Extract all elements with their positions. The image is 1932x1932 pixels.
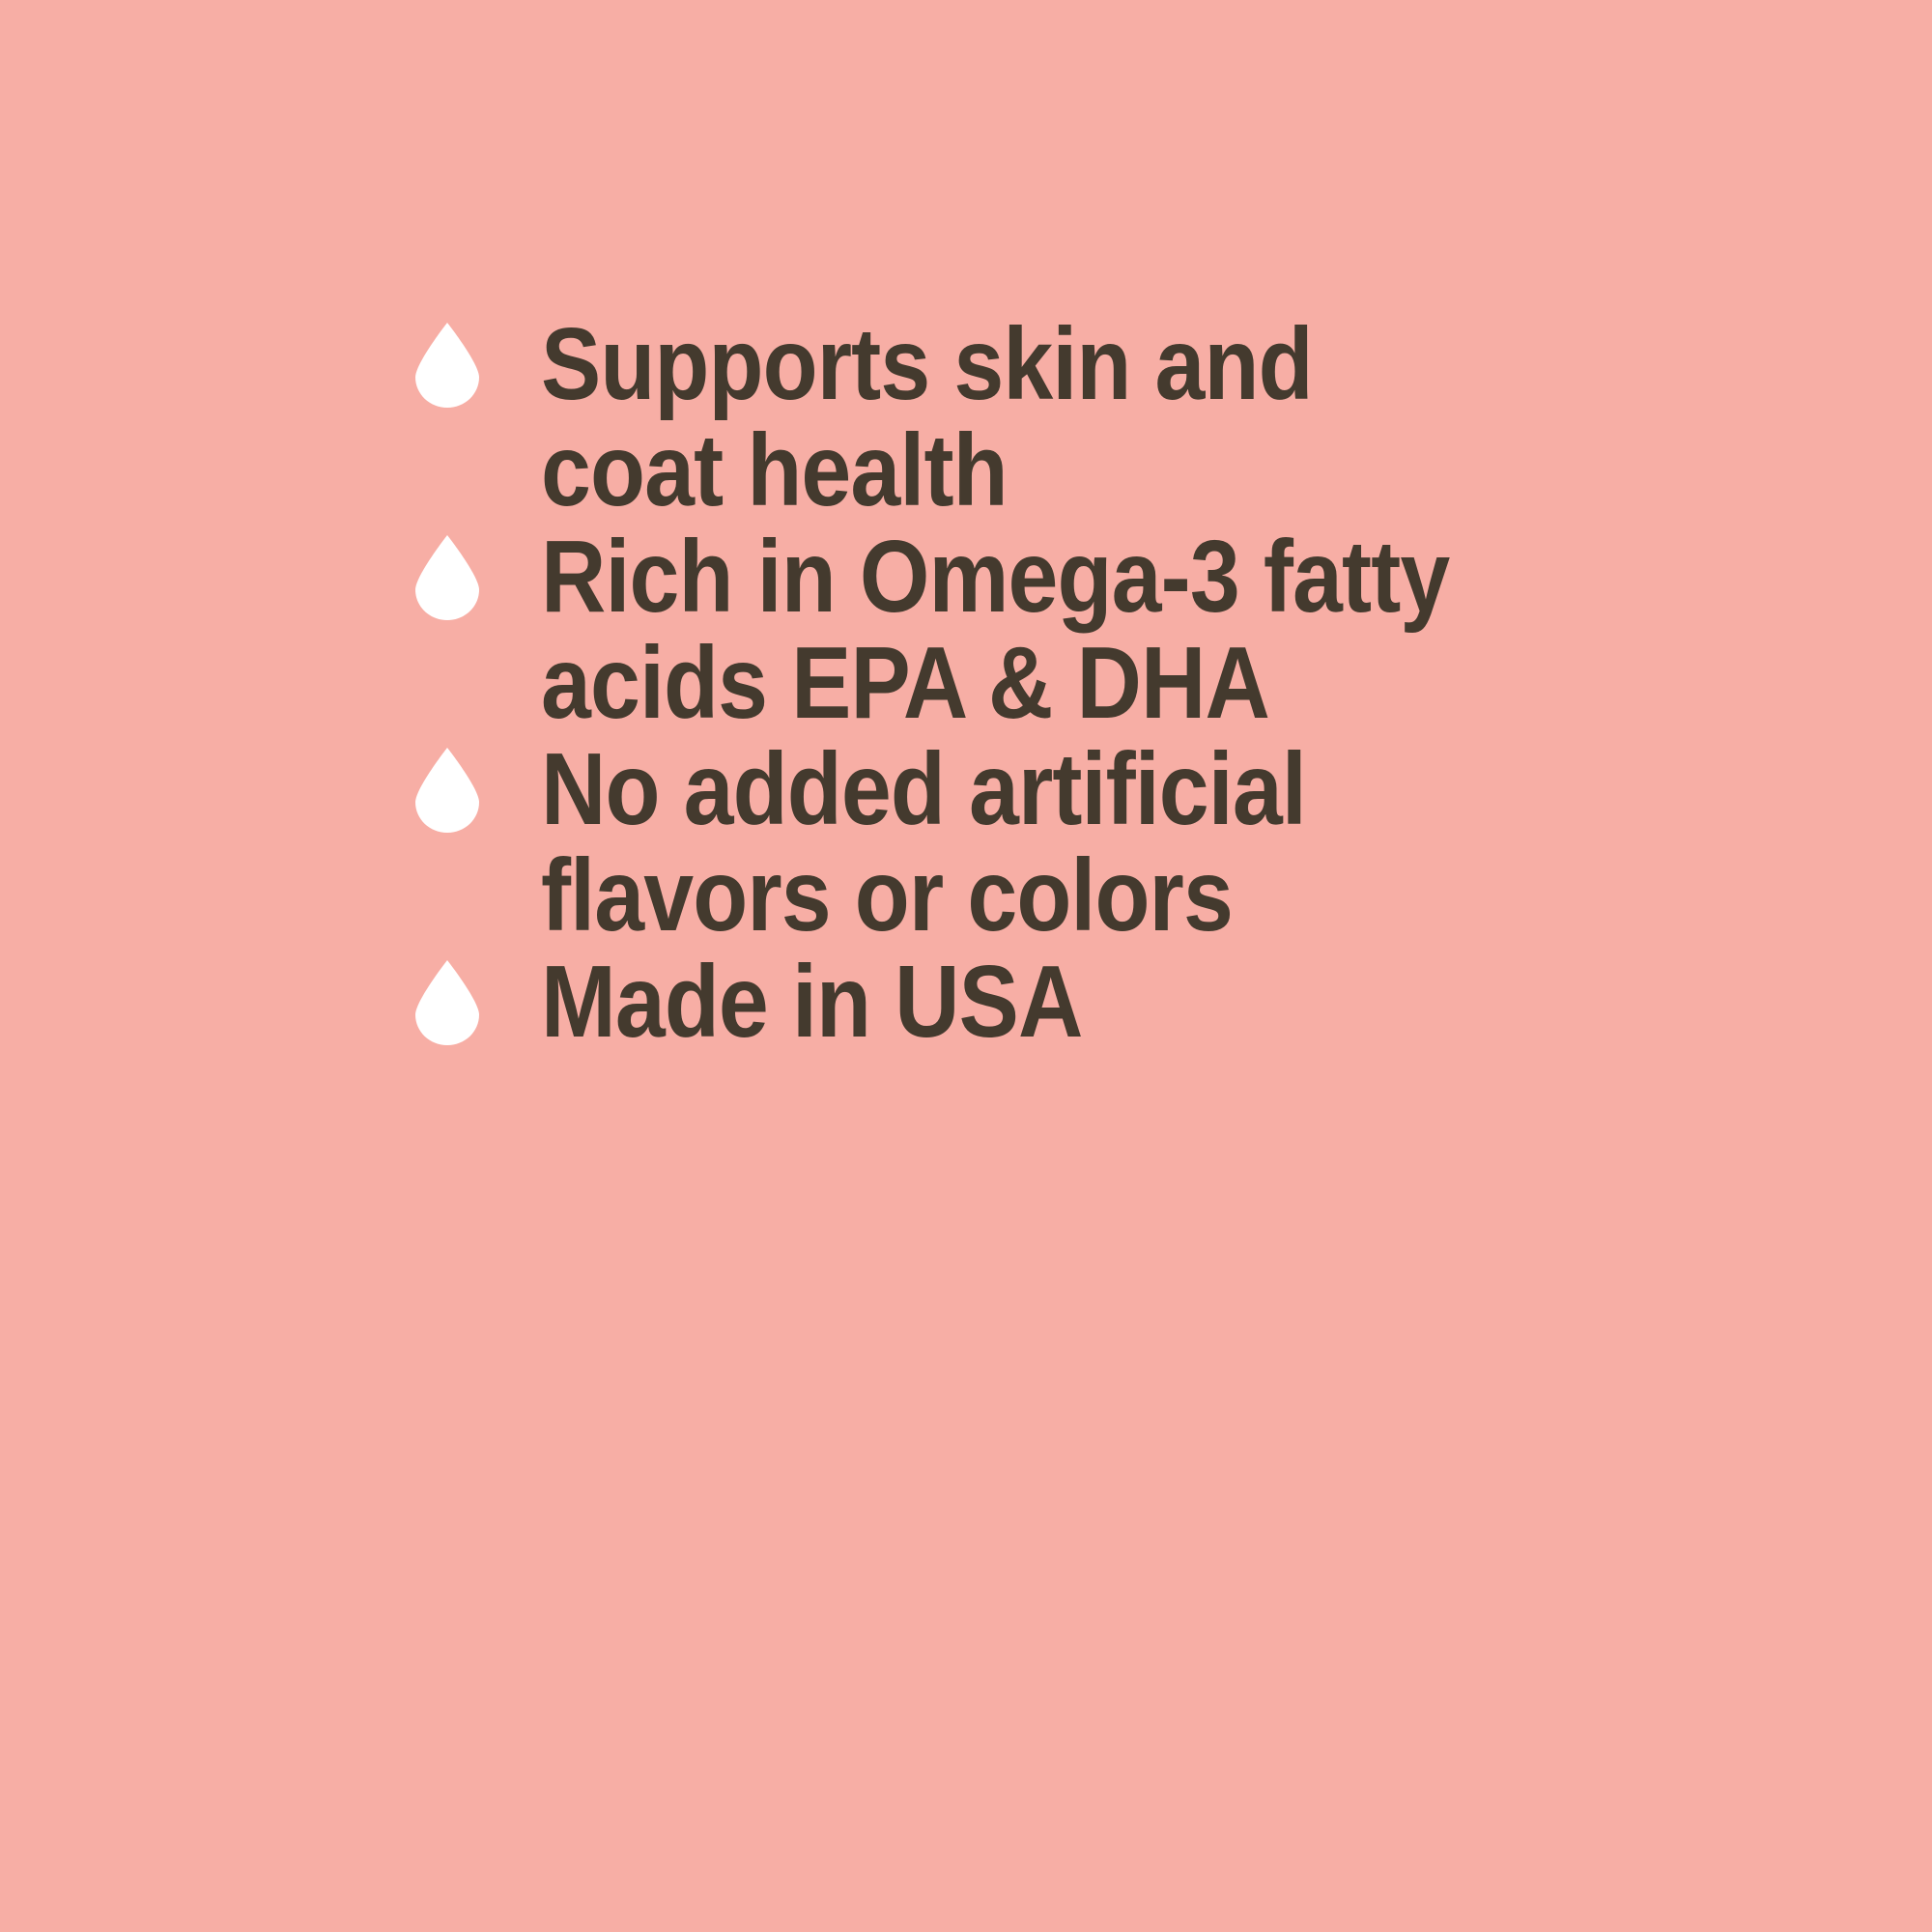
benefit-item-rich-in-omega-3: Rich in Omega-3 fatty acids EPA & DHA (415, 524, 1575, 736)
product-benefits-panel: Supports skin and coat health Rich in Om… (0, 0, 1932, 1932)
water-drop-icon (415, 323, 479, 408)
benefit-label: Made in USA (541, 949, 1451, 1055)
benefit-label: Supports skin and coat health (541, 311, 1451, 524)
benefit-item-supports-skin-and-coat-health: Supports skin and coat health (415, 311, 1575, 524)
benefits-list: Supports skin and coat health Rich in Om… (415, 290, 1575, 1055)
water-drop-icon (415, 535, 479, 620)
benefit-label: Rich in Omega-3 fatty acids EPA & DHA (541, 524, 1451, 736)
benefit-item-no-artificial-flavors-or-colors: No added artificial flavors or colors (415, 736, 1575, 949)
water-drop-icon (415, 960, 479, 1045)
benefit-item-made-in-usa: Made in USA (415, 949, 1575, 1055)
benefit-label: No added artificial flavors or colors (541, 736, 1451, 949)
water-drop-icon (415, 748, 479, 833)
